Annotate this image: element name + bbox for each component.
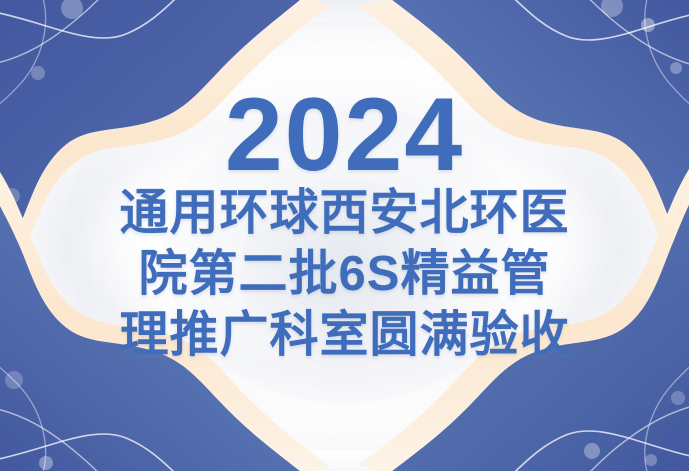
headline-block: 通用环球西安北环医 院第二批6S精益管 理推广科室圆满验收: [119, 188, 569, 362]
headline-line-2: 院第二批6S精益管: [139, 249, 551, 301]
headline-line-1: 通用环球西安北环医: [119, 188, 569, 240]
poster-canvas: 2024 通用环球西安北环医 院第二批6S精益管 理推广科室圆满验收: [0, 0, 689, 471]
poster-content: 2024 通用环球西安北环医 院第二批6S精益管 理推广科室圆满验收: [0, 0, 689, 471]
year-title: 2024: [225, 88, 464, 184]
headline-line-3: 理推广科室圆满验收: [119, 310, 569, 362]
